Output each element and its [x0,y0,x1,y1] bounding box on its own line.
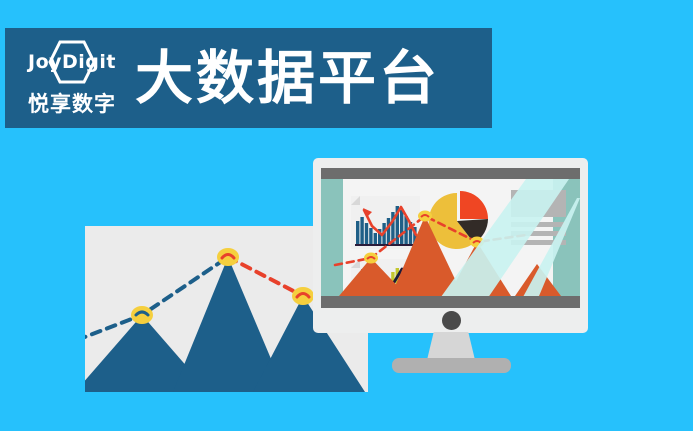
monitor-screen [321,168,580,308]
mountain-shape-4 [515,264,561,296]
data-point-marker [292,287,314,305]
screen-bar-top [321,168,580,179]
screen-bar-bottom [321,296,580,308]
mountain-shape-3 [448,242,511,296]
monitor-stand-neck [427,332,475,360]
data-point-marker [131,306,153,324]
power-button-icon[interactable] [442,311,461,330]
logo-wordmark: JoyDigit [18,53,126,72]
monitor [313,158,588,333]
brand-logo: JoyDigit 悦享数字 [18,36,126,120]
page-title: 大数据平台 [135,46,440,110]
logo-chinese-name: 悦享数字 [18,92,126,116]
poster-canvas: JoyDigit 悦享数字 大数据平台 [0,0,693,431]
header-banner: JoyDigit 悦享数字 大数据平台 [5,28,492,128]
orange-mountain-chart [321,168,580,308]
monitor-stand-base [392,358,511,373]
mountain-shape-2 [391,216,463,296]
data-point-marker [217,248,239,266]
